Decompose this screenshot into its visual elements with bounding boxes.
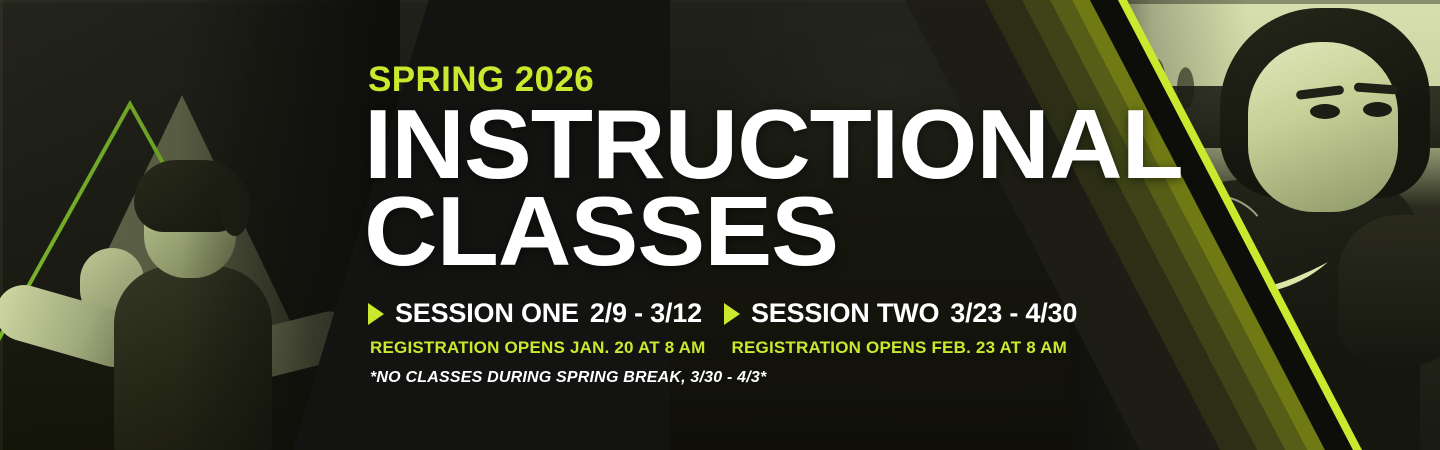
arrow-right-icon xyxy=(368,303,384,325)
session-two-dates: 3/23 - 4/30 xyxy=(950,298,1077,329)
session-two: SESSION TWO 3/23 - 4/30 xyxy=(724,298,1077,329)
arrow-right-icon xyxy=(724,303,740,325)
registration-row: REGISTRATION OPENS JAN. 20 AT 8 AM REGIS… xyxy=(370,338,1067,358)
registration-session-two: REGISTRATION OPENS FEB. 23 AT 8 AM xyxy=(732,338,1068,358)
banner-copy: SPRING 2026 INSTRUCTIONAL CLASSES SESSIO… xyxy=(368,0,1128,450)
sessions-row: SESSION ONE 2/9 - 3/12 SESSION TWO 3/23 … xyxy=(368,298,1077,329)
headline-line-2: CLASSES xyxy=(364,190,838,272)
registration-session-one: REGISTRATION OPENS JAN. 20 AT 8 AM xyxy=(370,338,706,358)
session-one: SESSION ONE 2/9 - 3/12 xyxy=(368,298,702,329)
session-one-dates: 2/9 - 3/12 xyxy=(590,298,702,329)
spring-break-footnote: *NO CLASSES DURING SPRING BREAK, 3/30 - … xyxy=(370,369,766,387)
promo-banner: SPRING 2026 INSTRUCTIONAL CLASSES SESSIO… xyxy=(0,0,1440,450)
session-one-label: SESSION ONE xyxy=(395,298,579,329)
headline-line-1: INSTRUCTIONAL xyxy=(364,103,1183,185)
session-two-label: SESSION TWO xyxy=(751,298,939,329)
